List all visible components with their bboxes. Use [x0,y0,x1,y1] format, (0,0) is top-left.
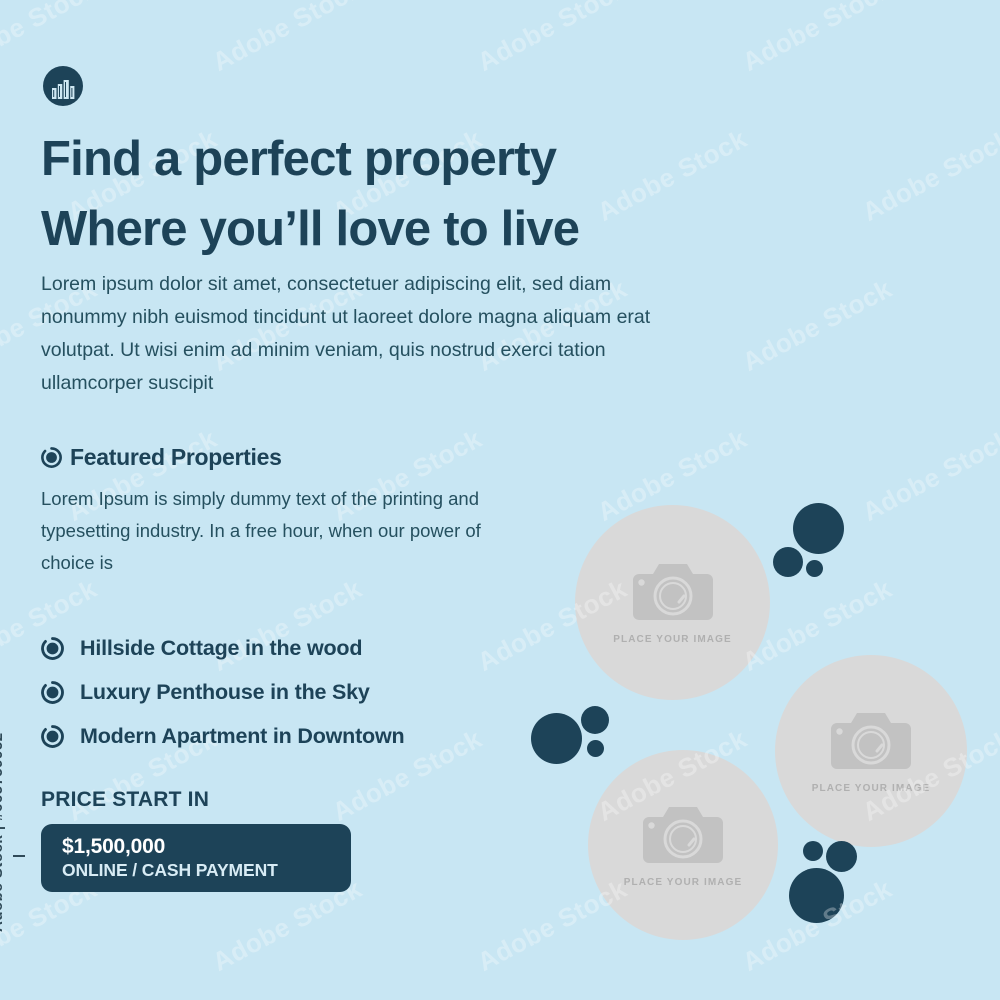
property-list: Hillside Cottage in the wood Luxury Pent… [41,626,561,758]
price-badge[interactable]: $1,500,000 ONLINE / CASH PAYMENT [41,824,351,892]
decorative-dot-large [789,868,844,923]
decorative-dot-small [587,740,604,757]
list-item-label: Modern Apartment in Downtown [80,724,404,749]
decorative-dot-medium [826,841,857,872]
featured-section: Featured Properties Lorem Ipsum is simpl… [41,444,521,579]
featured-body: Lorem Ipsum is simply dummy text of the … [41,483,521,579]
price-section: PRICE START IN $1,500,000 ONLINE / CASH … [41,788,351,892]
city-skyline-circle-logo-icon [43,66,83,106]
image-placeholder-caption: PLACE YOUR IMAGE [613,634,732,645]
price-amount: $1,500,000 [62,834,351,859]
decorative-dot-small [803,841,823,861]
list-item[interactable]: Hillside Cottage in the wood [41,626,561,670]
stock-id-watermark: Adobe Stock | #665759952 [0,732,6,932]
headline-line-1: Find a perfect property [41,124,701,194]
camera-icon [827,709,915,779]
featured-title: Featured Properties [70,444,282,471]
ring-dot-bullet-icon [41,681,64,704]
price-label: PRICE START IN [41,788,351,812]
list-item[interactable]: Modern Apartment in Downtown [41,714,561,758]
camera-icon [639,803,727,873]
image-placeholder-1[interactable]: PLACE YOUR IMAGE [575,505,770,700]
list-item[interactable]: Luxury Penthouse in the Sky [41,670,561,714]
list-item-label: Luxury Penthouse in the Sky [80,680,370,705]
watermark-tick [13,855,25,857]
intro-paragraph: Lorem ipsum dolor sit amet, consectetuer… [41,268,666,400]
price-terms: ONLINE / CASH PAYMENT [62,859,351,881]
decorative-dot-medium [581,706,609,734]
decorative-dot-medium [773,547,803,577]
brand-logo[interactable] [43,66,83,106]
image-placeholder-2[interactable]: PLACE YOUR IMAGE [775,655,967,847]
image-placeholder-caption: PLACE YOUR IMAGE [624,877,743,888]
ring-dot-bullet-icon [41,447,62,468]
decorative-dot-large [793,503,844,554]
decorative-dot-small [806,560,823,577]
image-placeholder-3[interactable]: PLACE YOUR IMAGE [588,750,778,940]
headline-line-2: Where you’ll love to live [41,194,701,264]
ring-dot-bullet-icon [41,637,64,660]
page-title: Find a perfect property Where you’ll lov… [41,124,701,264]
list-item-label: Hillside Cottage in the wood [80,636,362,661]
poster-canvas: PLACE YOUR IMAGE PLACE YOUR IMAGE PLAC [0,0,1000,1000]
camera-icon [629,560,717,630]
featured-heading: Featured Properties [41,444,521,471]
image-placeholder-caption: PLACE YOUR IMAGE [812,783,931,794]
ring-dot-bullet-icon [41,725,64,748]
